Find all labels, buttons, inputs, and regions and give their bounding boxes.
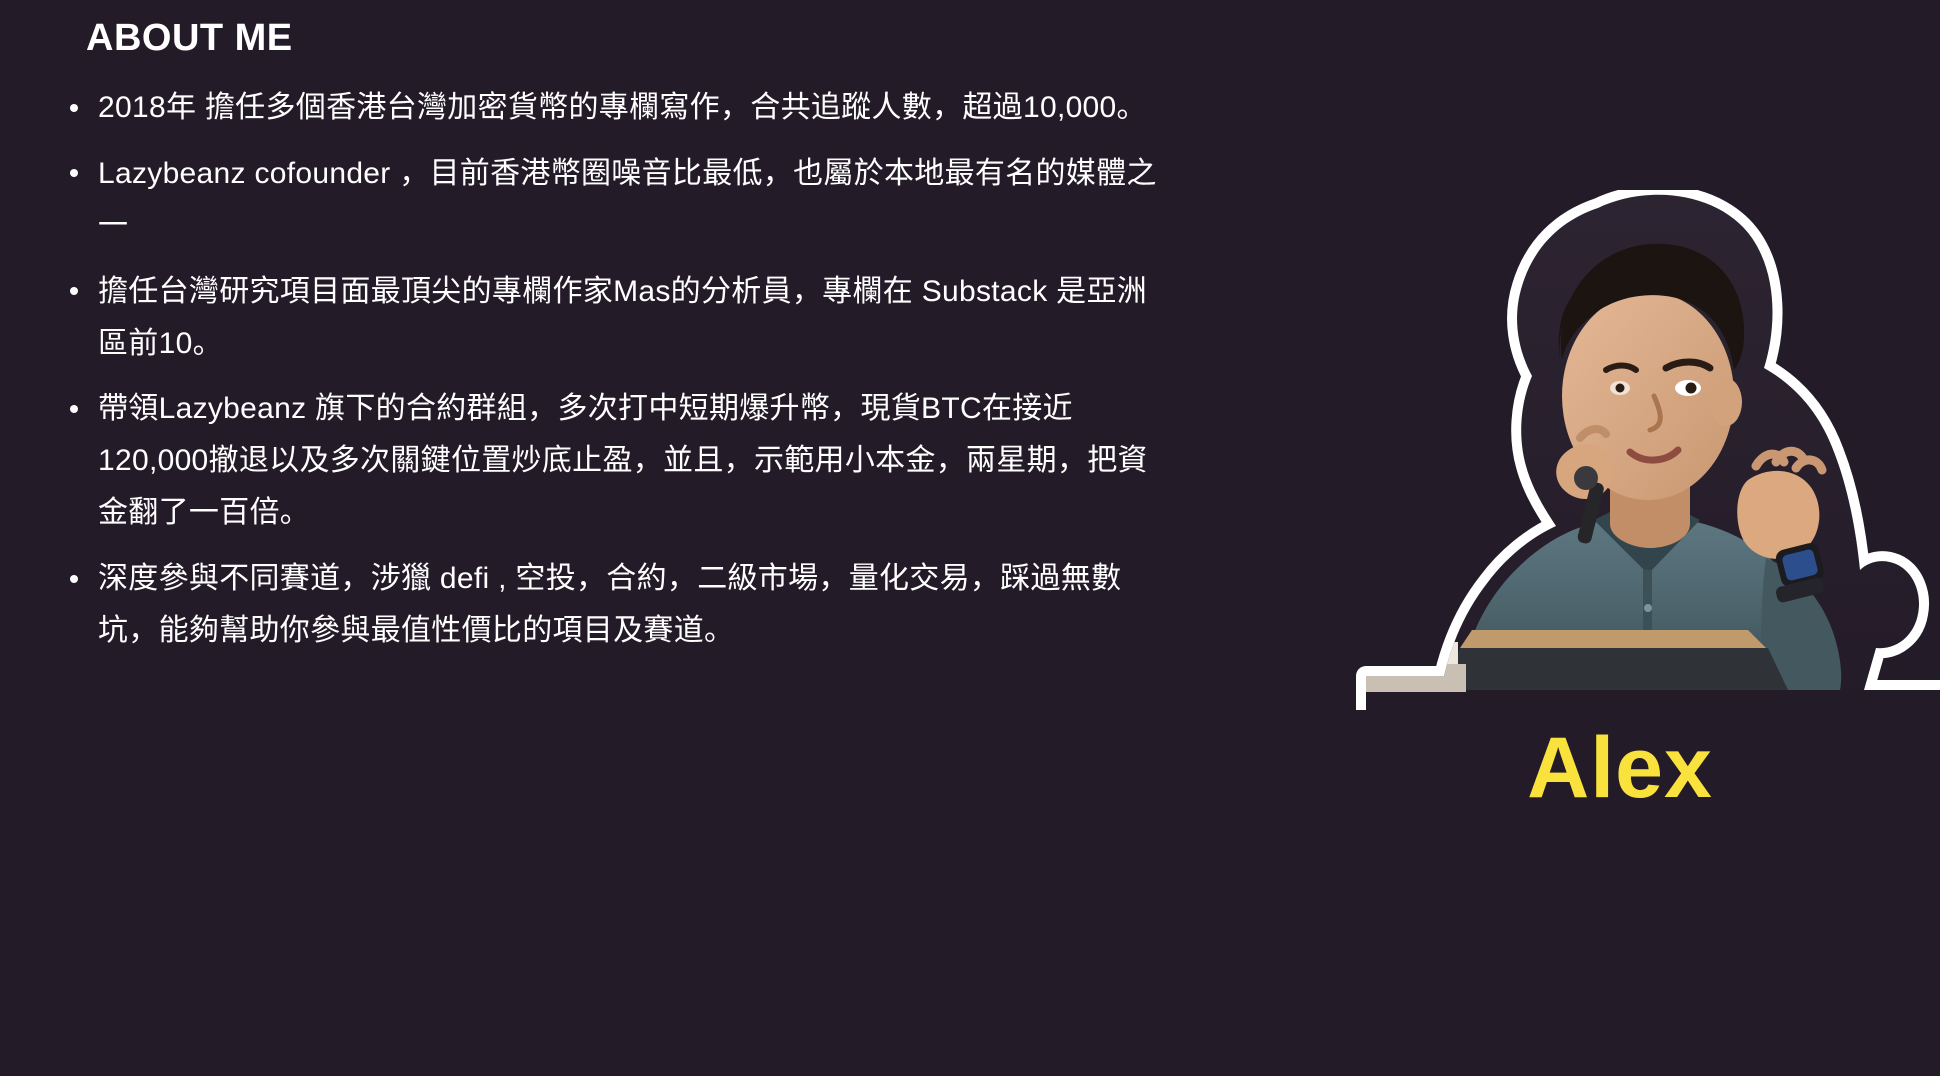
profile-name: Alex [1380, 725, 1860, 811]
list-item: 2018年 擔任多個香港台灣加密貨幣的專欄寫作，合共追蹤人數，超過10,000。 [62, 82, 1162, 134]
list-item: 深度參與不同賽道，涉獵 defi , 空投，合約，二級市場，量化交易，踩過無數坑… [62, 553, 1162, 657]
list-item: 帶領Lazybeanz 旗下的合約群組，多次打中短期爆升幣，現貨BTC在接近12… [62, 383, 1162, 539]
bullet-dot-icon [70, 287, 78, 295]
bullet-dot-icon [70, 104, 78, 112]
page-title: ABOUT ME [86, 16, 293, 62]
bullet-dot-icon [70, 405, 78, 413]
slide-root: ABOUT ME 2018年 擔任多個香港台灣加密貨幣的專欄寫作，合共追蹤人數，… [0, 0, 1940, 1076]
list-item: Lazybeanz cofounder ，目前香港幣圈噪音比最低，也屬於本地最有… [62, 148, 1162, 252]
list-item-text: 帶領Lazybeanz 旗下的合約群組，多次打中短期爆升幣，現貨BTC在接近12… [98, 383, 1162, 539]
list-item-text: 2018年 擔任多個香港台灣加密貨幣的專欄寫作，合共追蹤人數，超過10,000。 [98, 82, 1162, 134]
bullet-dot-icon [70, 575, 78, 583]
about-me-bullet-list: 2018年 擔任多個香港台灣加密貨幣的專欄寫作，合共追蹤人數，超過10,000。… [62, 82, 1162, 671]
portrait-photo [1348, 190, 1940, 710]
list-item-text: 擔任台灣研究項目面最頂尖的專欄作家Mas的分析員，專欄在 Substack 是亞… [98, 266, 1162, 370]
list-item: 擔任台灣研究項目面最頂尖的專欄作家Mas的分析員，專欄在 Substack 是亞… [62, 266, 1162, 370]
list-item-text: Lazybeanz cofounder ，目前香港幣圈噪音比最低，也屬於本地最有… [98, 148, 1162, 252]
profile-photo-block: Alex [1220, 190, 1880, 1020]
list-item-text: 深度參與不同賽道，涉獵 defi , 空投，合約，二級市場，量化交易，踩過無數坑… [98, 553, 1162, 657]
bullet-dot-icon [70, 169, 78, 177]
